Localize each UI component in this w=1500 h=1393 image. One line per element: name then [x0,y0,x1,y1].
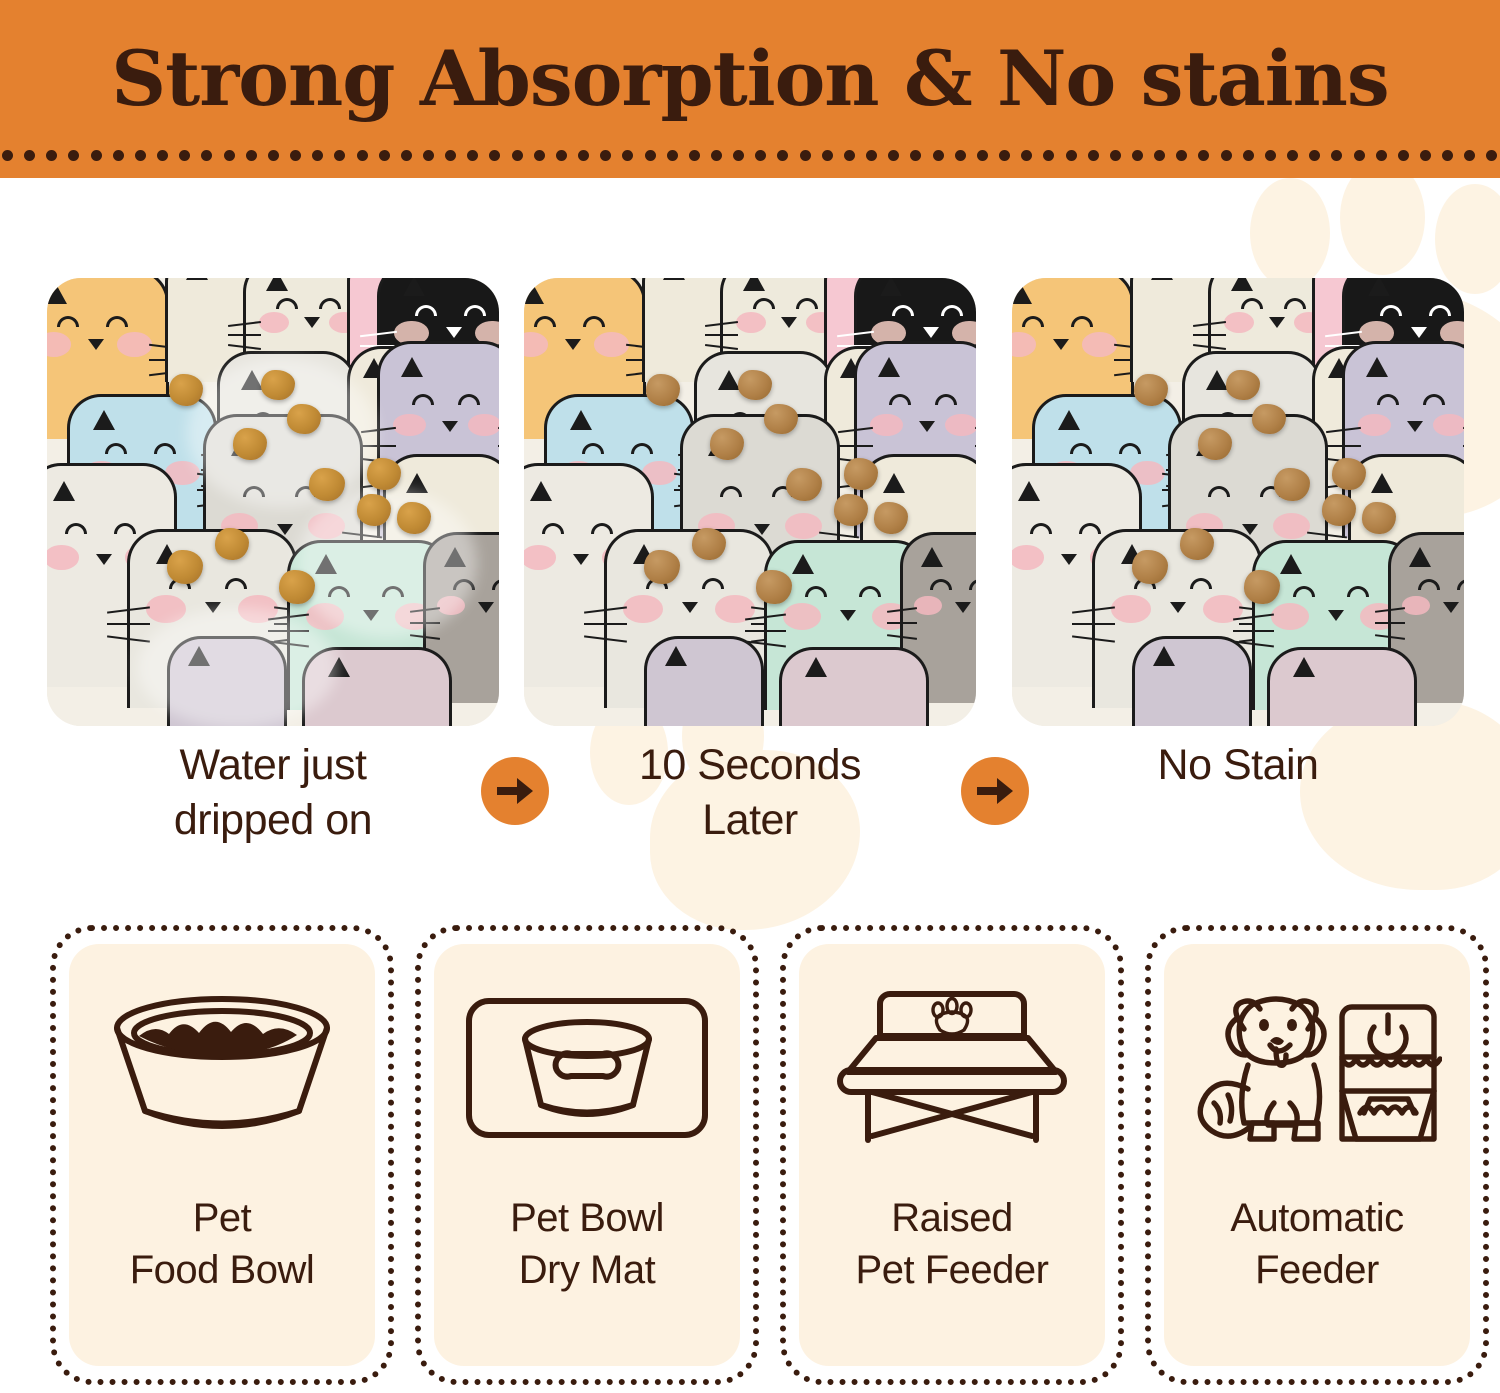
cat-pattern-fabric [47,278,499,726]
kibble-piece [357,494,391,526]
use-case-label: RaisedPet Feeder [856,1192,1049,1296]
caption-ten-seconds-later: 10 SecondsLater [524,738,976,848]
use-case-card-automatic-feeder: AutomaticFeeder [1145,925,1489,1385]
absorption-demo-strip [0,278,1500,728]
use-case-cards: PetFood Bowl Pet BowlDry Mat [0,925,1500,1385]
kibble-piece [233,428,267,460]
caption-no-stain: No Stain [1012,738,1464,793]
cat-pattern-fabric [524,278,976,726]
use-case-label: AutomaticFeeder [1230,1192,1403,1296]
cat-pattern-motif [779,647,929,726]
header-banner: Strong Absorption & No stains [0,0,1500,178]
caption-water-dripped: Water justdripped on [47,738,499,848]
kibble-piece [397,502,431,534]
use-case-card-pet-food-bowl: PetFood Bowl [50,925,394,1385]
kibble-piece [1132,550,1168,584]
kibble-piece [1322,494,1356,526]
use-case-label: Pet BowlDry Mat [510,1192,664,1296]
dotted-divider-icon [0,150,1500,164]
kibble-piece [1134,374,1168,406]
cat-pattern-fabric [1012,278,1464,726]
use-case-card-raised-pet-feeder: RaisedPet Feeder [780,925,1124,1385]
kibble-piece [287,404,321,434]
water-sheen [137,608,337,726]
kibble-piece [738,370,772,400]
kibble-piece [309,468,345,501]
page-title: Strong Absorption & No stains [111,34,1388,123]
kibble-piece [1332,458,1366,490]
pet-bowl-dry-mat-icon [434,944,740,1192]
kibble-piece [874,502,908,534]
automatic-feeder-icon [1164,944,1470,1192]
raised-pet-feeder-icon [799,944,1105,1192]
kibble-piece [692,528,726,560]
kibble-piece [756,570,792,604]
use-case-label: PetFood Bowl [130,1192,314,1296]
cat-pattern-motif [644,636,764,726]
kibble-piece [844,458,878,490]
kibble-piece [710,428,744,460]
kibble-piece [169,374,203,406]
kibble-piece [1274,468,1310,501]
kibble-piece [764,404,798,434]
kibble-piece [1244,570,1280,604]
paw-watermark-caption-right [1300,700,1500,930]
kibble-piece [1252,404,1286,434]
kibble-piece [279,570,315,604]
kibble-piece [646,374,680,406]
kibble-piece [215,528,249,560]
demo-photo-ten-seconds-later [524,278,976,726]
demo-photo-no-stain [1012,278,1464,726]
kibble-piece [1198,428,1232,460]
kibble-piece [261,370,295,400]
kibble-piece [644,550,680,584]
pet-food-bowl-icon [69,944,375,1192]
kibble-piece [834,494,868,526]
kibble-piece [1180,528,1214,560]
demo-photo-water-dripped [47,278,499,726]
kibble-piece [367,458,401,490]
use-case-card-pet-bowl-dry-mat: Pet BowlDry Mat [415,925,759,1385]
kibble-piece [1362,502,1396,534]
cat-pattern-motif [1132,636,1252,726]
kibble-piece [167,550,203,584]
cat-pattern-motif [1267,647,1417,726]
kibble-piece [1226,370,1260,400]
kibble-piece [786,468,822,501]
